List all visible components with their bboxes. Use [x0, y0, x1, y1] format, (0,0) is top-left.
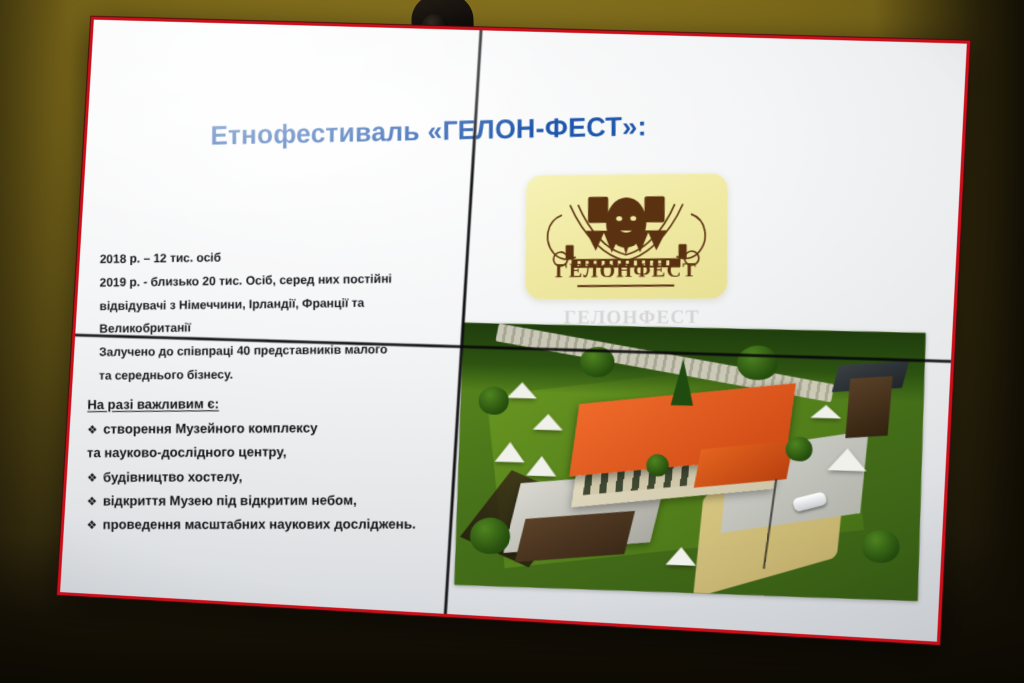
diamond-bullet-icon: ❖: [87, 519, 97, 531]
render-tent: [810, 405, 841, 419]
render-tree: [469, 517, 510, 554]
display-surface: Етнофестиваль «ГЕЛОН-ФЕСТ»: 2018 р. – 12…: [60, 20, 967, 642]
stat-line: та середнього бізнесу.: [99, 362, 436, 389]
priorities-block: На разі важливим є: ❖ створення Музейног…: [87, 390, 479, 537]
list-item: ❖ відкриття Музею під відкритим небом,: [87, 488, 478, 513]
render-tent: [666, 547, 697, 566]
render-tent: [506, 381, 537, 398]
render-tent: [495, 442, 526, 463]
video-wall-display[interactable]: Етнофестиваль «ГЕЛОН-ФЕСТ»: 2018 р. – 12…: [57, 17, 970, 645]
diamond-bullet-icon: ❖: [87, 472, 97, 484]
gelonfest-logo-card: ГЕЛОНФЕСТ: [525, 173, 728, 299]
statistics-block: 2018 р. – 12 тис. осіб 2019 р. - близько…: [99, 243, 436, 388]
diamond-bullet-icon: ❖: [87, 424, 97, 436]
aerial-render-image: [454, 323, 925, 601]
render-tent: [827, 448, 867, 472]
list-item-label: створення Музейного комплексу: [103, 417, 317, 442]
render-barn-wall: [515, 510, 635, 561]
list-item-label: відкриття Музею під відкритим небом,: [103, 489, 357, 514]
list-item-continuation: та науково-дослідного центру,: [87, 440, 478, 466]
list-item: ❖ створення Музейного комплексу: [87, 416, 478, 442]
slide-title: Етнофестиваль «ГЕЛОН-ФЕСТ»:: [210, 108, 807, 152]
priorities-heading: На разі важливим є:: [87, 390, 478, 417]
logo-wordmark: ГЕЛОНФЕСТ: [525, 259, 727, 283]
list-item-label: проведення масштабних наукових досліджен…: [103, 513, 416, 537]
render-tree: [646, 454, 669, 477]
video-wall-wrapper: Етнофестиваль «ГЕЛОН-ФЕСТ»: 2018 р. – 12…: [0, 0, 1024, 683]
render-tent: [526, 456, 557, 477]
stat-line: 2019 р. - близько 20 тис. Осіб, серед ни…: [100, 267, 436, 295]
render-tent: [533, 414, 564, 431]
diamond-bullet-icon: ❖: [87, 495, 97, 507]
presentation-slide: Етнофестиваль «ГЕЛОН-ФЕСТ»: 2018 р. – 12…: [60, 20, 967, 642]
render-conifer-tree: [671, 359, 695, 406]
render-tower: [846, 376, 893, 438]
list-item-label: будівництво хостелу,: [103, 465, 242, 489]
list-item: ❖ будівництво хостелу,: [87, 464, 478, 490]
render-tree: [737, 345, 779, 380]
render-tree: [785, 436, 812, 461]
list-item: ❖ проведення масштабних наукових дослідж…: [87, 512, 478, 537]
render-tree: [478, 386, 509, 415]
